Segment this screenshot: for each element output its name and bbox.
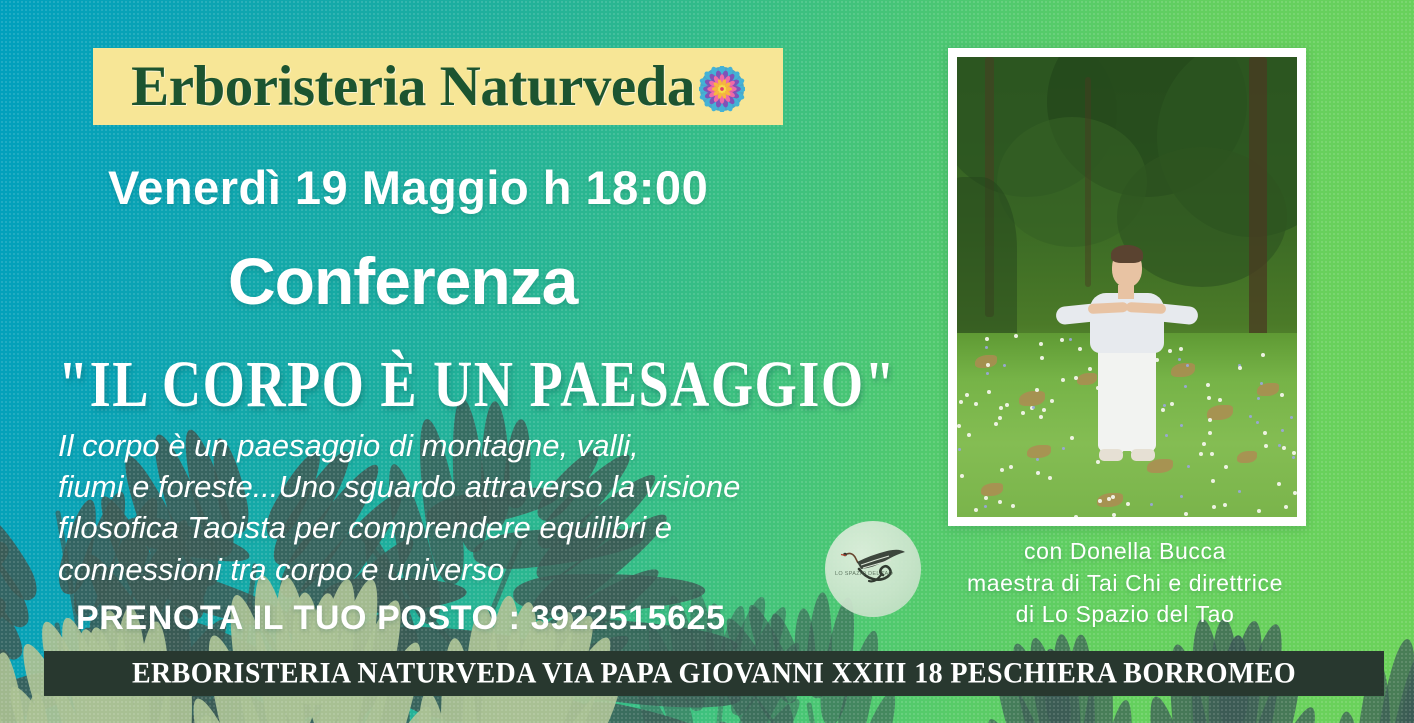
daisy bbox=[1009, 465, 1013, 469]
daisy bbox=[1003, 364, 1006, 367]
daisy bbox=[1035, 388, 1039, 392]
caption-line: di Lo Spazio del Tao bbox=[930, 599, 1320, 631]
daisy bbox=[960, 474, 964, 478]
poster-canvas: Erboristeria Naturveda Venerdì 19 Maggio… bbox=[0, 0, 1414, 723]
caption-line: con Donella Bucca bbox=[930, 536, 1320, 568]
daisy bbox=[1218, 398, 1222, 402]
daisy bbox=[1207, 396, 1211, 400]
event-type: Conferenza bbox=[228, 243, 577, 319]
crane-bird-logo-icon: LO SPAZIO DEL TAO bbox=[825, 521, 921, 617]
daisy bbox=[1011, 504, 1015, 508]
mandala-icon bbox=[699, 66, 745, 112]
daisy bbox=[1014, 334, 1018, 338]
daisy bbox=[1264, 444, 1268, 448]
daisy bbox=[1280, 393, 1284, 397]
daisy bbox=[1282, 446, 1286, 450]
speaker-photo bbox=[957, 57, 1297, 517]
daisy bbox=[1202, 442, 1206, 446]
caption-line: maestra di Tai Chi e direttrice bbox=[930, 568, 1320, 600]
daisy bbox=[1256, 421, 1259, 424]
daisy bbox=[1208, 418, 1212, 422]
description-line: connessioni tra corpo e universo bbox=[58, 549, 858, 590]
brand-name: Erboristeria Naturveda bbox=[131, 58, 695, 115]
daisy bbox=[965, 393, 969, 397]
daisy bbox=[1184, 512, 1188, 516]
tai-chi-practitioner bbox=[1052, 241, 1202, 471]
daisy bbox=[1039, 415, 1043, 419]
daisy bbox=[1293, 491, 1297, 495]
daisy bbox=[974, 508, 978, 512]
daisy bbox=[1238, 490, 1241, 493]
daisy bbox=[1212, 505, 1216, 509]
event-dateline: Venerdì 19 Maggio h 18:00 bbox=[108, 160, 708, 215]
daisy bbox=[1005, 403, 1009, 407]
daisy bbox=[1290, 416, 1293, 419]
daisy bbox=[1021, 411, 1025, 415]
daisy bbox=[985, 337, 989, 341]
daisy bbox=[1278, 444, 1281, 447]
speaker-photo-frame bbox=[948, 48, 1306, 526]
daisy bbox=[987, 390, 991, 394]
daisy bbox=[985, 346, 988, 349]
daisy bbox=[1206, 383, 1210, 387]
daisy bbox=[984, 505, 987, 508]
crane-bird-glyph bbox=[825, 521, 921, 617]
daisy bbox=[1036, 458, 1039, 461]
daisy bbox=[1238, 366, 1242, 370]
page-title: "IL CORPO È UN PAESAGGIO" bbox=[58, 347, 896, 423]
brand-logo-band: Erboristeria Naturveda bbox=[93, 48, 783, 125]
daisy bbox=[967, 433, 971, 437]
daisy bbox=[1292, 456, 1295, 459]
daisy bbox=[998, 416, 1002, 420]
description-line: fiumi e foreste...Uno sguardo attraverso… bbox=[58, 466, 858, 507]
daisy bbox=[1257, 397, 1260, 400]
tao-logo-caption: LO SPAZIO DEL TAO bbox=[835, 571, 893, 579]
daisy bbox=[1249, 415, 1252, 418]
daisy bbox=[998, 500, 1002, 504]
daisy bbox=[1042, 408, 1046, 412]
daisy bbox=[1223, 503, 1227, 507]
daisy bbox=[1039, 342, 1043, 346]
daisy bbox=[1032, 406, 1035, 409]
daisy bbox=[1208, 431, 1212, 435]
address-text: ERBORISTERIA NATURVEDA VIA PAPA GIOVANNI… bbox=[132, 657, 1296, 691]
daisy bbox=[1284, 505, 1288, 509]
daisy bbox=[1277, 482, 1281, 486]
daisy bbox=[1000, 468, 1004, 472]
address-banner: ERBORISTERIA NATURVEDA VIA PAPA GIOVANNI… bbox=[44, 651, 1384, 696]
daisy bbox=[1074, 515, 1078, 517]
daisy bbox=[1040, 356, 1044, 360]
description-line: filosofica Taoista per comprendere equil… bbox=[58, 507, 858, 548]
daisy bbox=[1263, 431, 1267, 435]
daisy bbox=[994, 422, 998, 426]
daisy bbox=[1150, 503, 1153, 506]
event-description: Il corpo è un paesaggio di montagne, val… bbox=[58, 425, 858, 590]
daisy bbox=[1292, 451, 1296, 455]
daisy bbox=[957, 424, 961, 428]
daisy bbox=[999, 406, 1003, 410]
daisy bbox=[986, 372, 989, 375]
daisy bbox=[1224, 465, 1228, 469]
daisy bbox=[1257, 509, 1261, 513]
description-line: Il corpo è un paesaggio di montagne, val… bbox=[58, 425, 858, 466]
speaker-caption: con Donella Bucca maestra di Tai Chi e d… bbox=[930, 536, 1320, 631]
daisy bbox=[974, 402, 978, 406]
booking-phone-line[interactable]: PRENOTA IL TUO POSTO : 3922515625 bbox=[76, 599, 726, 638]
daisy bbox=[1180, 495, 1183, 498]
daisy bbox=[1211, 479, 1215, 483]
daisy bbox=[1210, 452, 1214, 456]
daisy bbox=[984, 496, 988, 500]
daisy bbox=[1261, 353, 1265, 357]
daisy bbox=[959, 400, 963, 404]
daisy bbox=[1112, 513, 1116, 517]
daisy bbox=[958, 448, 961, 451]
daisy bbox=[1126, 502, 1130, 506]
daisy bbox=[1048, 476, 1052, 480]
daisy bbox=[1281, 429, 1284, 432]
daisy bbox=[1036, 471, 1040, 475]
